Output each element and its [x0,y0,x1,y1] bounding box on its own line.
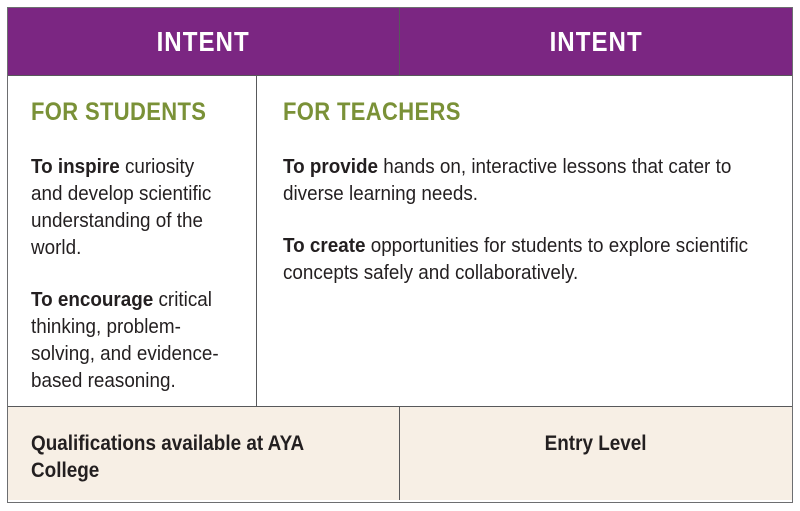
paragraph-inspire-lead: To inspire [31,155,120,178]
footer-text-qualifications: Qualifications available at AYA College [31,430,339,484]
header-cell-right: INTENT [400,8,792,75]
paragraph-encourage: To encourage critical thinking, problem-… [31,286,228,394]
paragraph-provide: To provide hands on, interactive lessons… [283,153,763,207]
header-title-right: INTENT [549,26,642,58]
table-footer-row: Qualifications available at AYA College … [8,407,792,500]
intent-table: INTENT INTENT FOR STUDENTS To inspire cu… [7,7,793,503]
paragraph-create: To create opportunities for students to … [283,232,763,286]
paragraph-encourage-lead: To encourage [31,288,153,311]
subheading-for-teachers: FOR TEACHERS [283,98,708,127]
paragraph-inspire: To inspire curiosity and develop scienti… [31,153,228,261]
header-cell-left: INTENT [8,8,400,75]
table-header-row: INTENT INTENT [8,8,792,76]
body-cell-teachers: FOR TEACHERS To provide hands on, intera… [257,76,792,406]
header-title-left: INTENT [157,26,250,58]
footer-cell-level: Entry Level [400,407,792,500]
table-body-row: FOR STUDENTS To inspire curiosity and de… [8,76,792,407]
paragraph-provide-lead: To provide [283,155,378,178]
footer-text-level: Entry Level [545,430,647,457]
footer-cell-qualifications: Qualifications available at AYA College [8,407,400,500]
paragraph-create-lead: To create [283,234,365,257]
body-cell-students: FOR STUDENTS To inspire curiosity and de… [8,76,257,406]
subheading-for-students: FOR STUDENTS [31,98,206,127]
